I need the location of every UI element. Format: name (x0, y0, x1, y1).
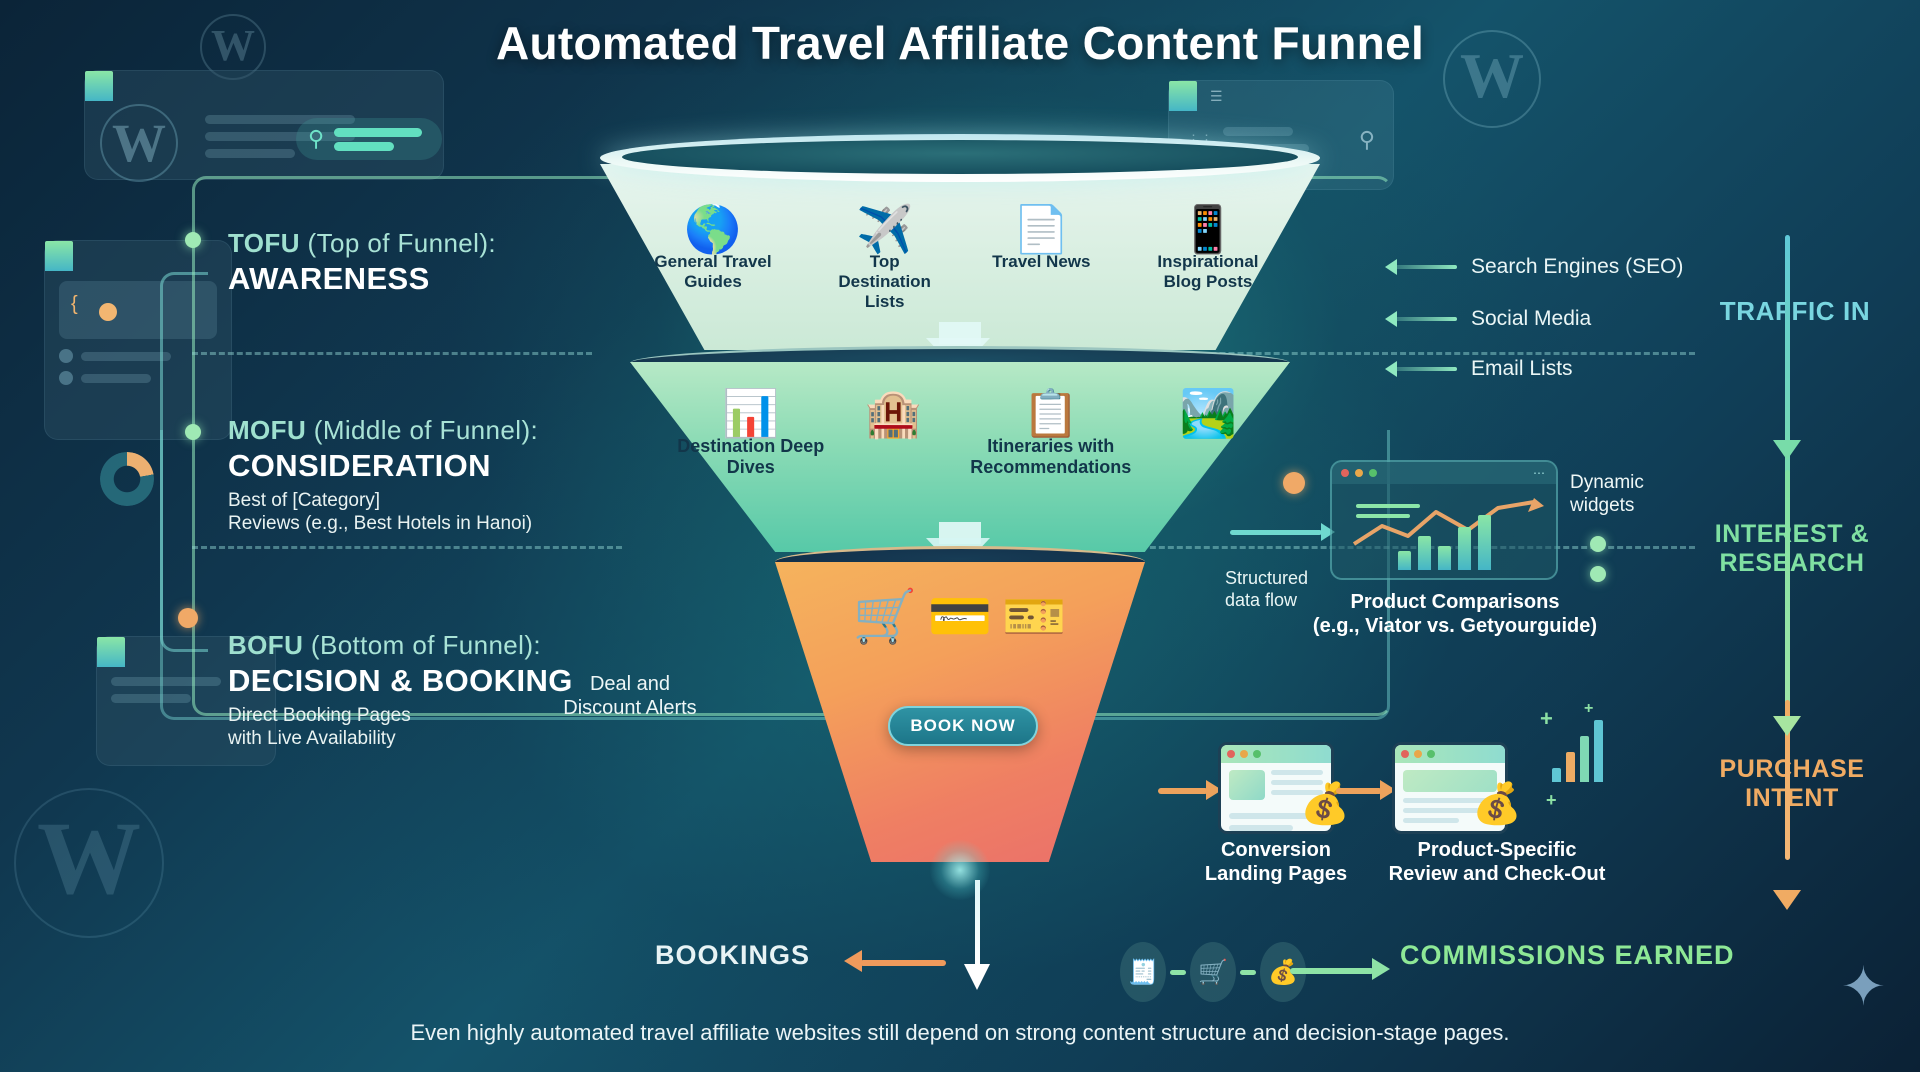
placeholder-line (1229, 825, 1293, 831)
growth-sparkline (1552, 728, 1603, 782)
bar (1478, 515, 1491, 570)
commissions-earned-label: COMMISSIONS EARNED (1400, 940, 1735, 971)
stage-label-bofu: BOFU (Bottom of Funnel): DECISION & BOOK… (228, 630, 573, 751)
flow-arrow (1336, 788, 1382, 794)
minimize-dot-icon (1414, 750, 1422, 758)
traffic-source-search-engines: Search Engines (SEO) (1395, 255, 1683, 279)
placeholder-line (205, 149, 295, 158)
checklist-itinerary-icon: 📋 (961, 390, 1141, 436)
product-comparisons-label: Product Comparisons (e.g., Viator vs. Ge… (1285, 590, 1625, 639)
bar (1566, 752, 1575, 782)
arrow-left-icon (1395, 265, 1457, 269)
bar-chart (1332, 508, 1556, 578)
rail-node (185, 232, 201, 248)
bofu-content-items: 🛒 💳 🎫 (805, 586, 1115, 647)
hotel-building-icon: 🏨 (853, 390, 933, 436)
bar (1438, 546, 1451, 570)
flow-arrow-head (1773, 890, 1801, 910)
flow-arrow-head (1773, 716, 1801, 736)
content-item-label: General Travel Guides (654, 252, 771, 291)
content-item-label: Inspirational Blog Posts (1157, 252, 1258, 291)
menu-icon: ☰ (1210, 88, 1225, 105)
stage-kicker: BOFU (Bottom of Funnel): (228, 630, 573, 661)
structured-data-flow-arrow (1230, 530, 1322, 535)
rail-node (1590, 566, 1606, 582)
shopping-cart-icon: 🛒 (853, 586, 918, 647)
footnote: Even highly automated travel affiliate w… (0, 1020, 1920, 1046)
maximize-dot-icon (1427, 750, 1435, 758)
sparkle-icon: ✦ (1841, 955, 1886, 1018)
comparison-table-icon: 📊 (676, 390, 826, 436)
close-dot-icon (1227, 750, 1235, 758)
placeholder-line (81, 374, 151, 383)
chain-link (1240, 970, 1256, 975)
bookings-arrow (860, 960, 946, 966)
window-titlebar: ⋯ (1332, 462, 1556, 484)
content-item-label: Itineraries with Recommendations (970, 436, 1131, 477)
receipt-icon: 🧾 (1120, 942, 1166, 1002)
bar (1398, 551, 1411, 570)
bookings-label: BOOKINGS (655, 940, 810, 971)
rail-node (178, 608, 198, 628)
stage-kicker-sub: (Top of Funnel): (308, 228, 497, 258)
search-icon: ⚲ (308, 126, 324, 152)
product-comparison-widget: ⋯ (1330, 460, 1558, 580)
bullet-icon (59, 371, 73, 385)
content-item-hotel: 🏨 (853, 390, 933, 436)
stage-description: Best of [Category] Reviews (e.g., Best H… (228, 489, 538, 536)
funnel-graphic: 🌎 General Travel Guides ✈️ Top Destinati… (600, 150, 1320, 880)
traffic-source-label: Search Engines (SEO) (1471, 255, 1683, 279)
right-stage-interest-research: INTEREST & RESEARCH (1672, 520, 1912, 578)
flow-arrow (1158, 788, 1208, 794)
content-item-travel-news: 📄 Travel News (991, 206, 1091, 272)
dynamic-widgets-label: Dynamic widgets (1570, 472, 1690, 518)
content-item-inspirational-blog-posts: 📱 Inspirational Blog Posts (1138, 206, 1278, 292)
content-item-top-destination-lists: ✈️ Top Destination Lists (825, 206, 945, 312)
stage-divider (192, 546, 622, 549)
search-icon: ⚲ (1359, 127, 1375, 153)
bar (1594, 720, 1603, 782)
arrow-left-icon (1395, 317, 1457, 321)
stage-divider (192, 352, 592, 355)
tofu-content-items: 🌎 General Travel Guides ✈️ Top Destinati… (648, 206, 1278, 312)
wordpress-logo-icon: W (100, 104, 178, 182)
money-bag-icon: 💰 (1472, 780, 1522, 827)
news-document-icon: 📄 (991, 206, 1091, 252)
bullet-icon (59, 349, 73, 363)
code-squiggle-icon: { (71, 293, 78, 316)
content-item-label: Destination Deep Dives (677, 436, 824, 477)
commissions-arrow (1290, 968, 1374, 974)
plus-icon: + (1546, 790, 1557, 811)
stage-title: DECISION & BOOKING (228, 663, 573, 699)
shopping-cart-icon: 🛒 (1190, 942, 1236, 1002)
bar (1418, 536, 1431, 570)
funnel-output-arrow (975, 880, 980, 964)
placeholder-line (1223, 127, 1293, 136)
maximize-dot-icon (1253, 750, 1261, 758)
funnel-exit-glow (930, 840, 990, 900)
chain-link (1170, 970, 1186, 975)
plus-icon: + (1540, 706, 1553, 732)
stage-label-mofu: MOFU (Middle of Funnel): CONSIDERATION B… (228, 415, 538, 536)
vertical-flow-line (1785, 470, 1790, 720)
rail-node (185, 424, 201, 440)
credit-card-icon: 💳 (928, 586, 993, 647)
bar (1580, 736, 1589, 782)
rail-node (1590, 536, 1606, 552)
product-specific-review-label: Product-Specific Review and Check-Out (1382, 838, 1612, 886)
stage-title: CONSIDERATION (228, 448, 538, 484)
right-stage-purchase-intent: PURCHASE INTENT (1672, 755, 1912, 813)
node-dot-icon (99, 303, 117, 321)
landscape-photo-icon: 🏞️ (1168, 390, 1248, 436)
wordpress-logo-icon: W (14, 788, 164, 938)
minimize-dot-icon (1355, 469, 1363, 477)
plus-icon: + (1584, 700, 1593, 718)
decorative-search-field: ⚲ (296, 118, 442, 160)
stage-kicker-sub: (Bottom of Funnel): (311, 630, 541, 660)
mobile-phone-icon: 📱 (1138, 206, 1278, 252)
right-stage-traffic-in: TRAFFIC IN (1690, 296, 1900, 327)
placeholder-line (334, 128, 422, 137)
window-titlebar (1395, 745, 1505, 763)
traffic-source-social-media: Social Media (1395, 307, 1591, 331)
window-titlebar: ☰ (1169, 81, 1197, 111)
content-item-general-travel-guides: 🌎 General Travel Guides (648, 206, 778, 292)
stage-description: Direct Booking Pages with Live Availabil… (228, 704, 573, 751)
conversion-landing-pages-label: Conversion Landing Pages (1186, 838, 1366, 886)
more-options-icon: ⋯ (1533, 466, 1547, 480)
traffic-source-label: Email Lists (1471, 357, 1573, 381)
book-now-button[interactable]: BOOK NOW (888, 706, 1038, 746)
content-item-itineraries: 📋 Itineraries with Recommendations (961, 390, 1141, 478)
commission-chain: 🧾 🛒 💰 (1120, 942, 1306, 1002)
content-item-destination-deep-dives: 📊 Destination Deep Dives (676, 390, 826, 478)
window-titlebar (45, 241, 73, 271)
bar (1552, 768, 1561, 782)
content-item-label: Top Destination Lists (838, 252, 931, 311)
mofu-content-items: 📊 Destination Deep Dives 🏨 📋 Itineraries… (662, 390, 1262, 478)
window-titlebar (85, 71, 113, 101)
close-dot-icon (1401, 750, 1409, 758)
infographic-canvas: W W W W ⚲ { (0, 0, 1920, 1072)
stage-kicker-bold: BOFU (228, 630, 303, 660)
arrow-left-icon (1395, 367, 1457, 371)
content-item-label: Travel News (992, 252, 1090, 271)
page-title: Automated Travel Affiliate Content Funne… (0, 16, 1920, 70)
content-item-landscape: 🏞️ (1168, 390, 1248, 436)
donut-chart-icon (100, 452, 154, 506)
globe-icon: 🌎 (648, 206, 778, 252)
thumbnail (1229, 770, 1265, 800)
stage-title: AWARENESS (228, 261, 496, 297)
placeholder-line (1229, 813, 1311, 819)
placeholder-line (334, 142, 394, 151)
flow-arrow-head (1773, 440, 1801, 460)
traffic-source-email-lists: Email Lists (1395, 357, 1573, 381)
window-titlebar (97, 637, 125, 667)
stage-label-tofu: TOFU (Top of Funnel): AWARENESS (228, 228, 496, 302)
window-titlebar (1221, 745, 1331, 763)
stage-kicker: MOFU (Middle of Funnel): (228, 415, 538, 446)
close-dot-icon (1341, 469, 1349, 477)
minimize-dot-icon (1240, 750, 1248, 758)
rail-node (1283, 472, 1305, 494)
maximize-dot-icon (1369, 469, 1377, 477)
funnel-top-opening (622, 140, 1298, 174)
airplane-icon: ✈️ (825, 206, 945, 252)
stage-kicker-sub: (Middle of Funnel): (314, 415, 538, 445)
stage-kicker: TOFU (Top of Funnel): (228, 228, 496, 259)
bar (1458, 527, 1471, 570)
stage-kicker-bold: TOFU (228, 228, 300, 258)
stage-kicker-bold: MOFU (228, 415, 306, 445)
placeholder-line (81, 352, 171, 361)
ticket-icon: 🎫 (1002, 586, 1067, 647)
traffic-source-label: Social Media (1471, 307, 1591, 331)
